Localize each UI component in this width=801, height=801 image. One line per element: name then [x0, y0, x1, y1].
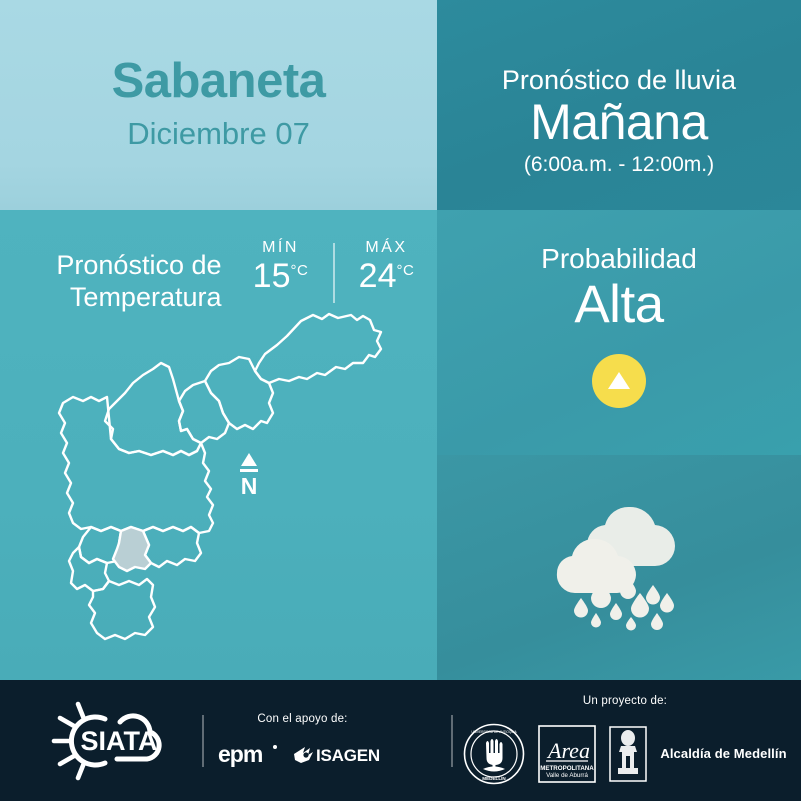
- aburra-valley-map: N: [0, 305, 437, 675]
- udea-ring-top-text: UNIVERSIDAD DE ANTIOQUIA: [472, 730, 518, 734]
- weather-icon-panel: [437, 455, 801, 680]
- amva-wordmark: Area: [546, 738, 590, 763]
- map-region-caldas: [89, 579, 155, 639]
- footer-divider-1: [202, 715, 204, 767]
- alcaldia-label: Alcaldía de Medellín: [660, 746, 786, 761]
- probability-panel: Probabilidad Alta: [437, 210, 801, 455]
- probability-value: Alta: [437, 275, 801, 336]
- rain-cloud-icon: [529, 493, 709, 643]
- rain-forecast-label: Pronóstico de lluvia: [437, 66, 801, 94]
- footer: SIATA Con el apoyo de: epm ISAGE: [0, 680, 801, 801]
- project-caption: Un proyecto de:: [463, 696, 786, 708]
- siata-wordmark: SIATA: [80, 726, 157, 756]
- map-region-copacabana: [179, 381, 229, 443]
- temperature-title: Pronóstico de Temperatura: [10, 239, 222, 314]
- epm-logo: epm: [218, 741, 280, 767]
- map-region-bello: [105, 363, 201, 455]
- rain-forecast-hours: (6:00a.m. - 12:00m.): [437, 152, 801, 178]
- forecast-date: Diciembre 07: [0, 118, 437, 149]
- rain-forecast-period: Mañana: [437, 94, 801, 150]
- temperature-title-line1: Pronóstico de: [10, 250, 222, 282]
- udea-ring-bottom-text: MEDELLÍN: [483, 774, 507, 781]
- temperature-min-caption: MÍN: [240, 239, 322, 257]
- alcaldia-shield-logo: [609, 726, 647, 782]
- weather-forecast-card: Sabaneta Diciembre 07 Pronóstico de lluv…: [0, 0, 801, 801]
- udea-logo: MEDELLÍN UNIVERSIDAD DE ANTIOQUIA: [463, 723, 525, 785]
- temperature-min-value: 15: [253, 257, 291, 295]
- probability-badge: [592, 354, 646, 408]
- temperature-summary: Pronóstico de Temperatura MÍN 15°C MÁX 2…: [0, 210, 437, 314]
- support-block: Con el apoyo de: epm ISAGEN: [218, 714, 388, 767]
- north-arrow-icon: [240, 453, 258, 472]
- amva-line2: Valle de Aburrá: [546, 772, 588, 779]
- map-region-barbosa: [255, 314, 381, 383]
- temperature-max-value-row: 24°C: [346, 258, 428, 295]
- temperature-values: MÍN 15°C MÁX 24°C: [240, 239, 428, 303]
- map-region-medellin: [59, 397, 213, 533]
- map-region-la-estrella: [69, 547, 109, 591]
- siata-logo: SIATA: [50, 698, 188, 784]
- map-region-envigado: [143, 527, 201, 567]
- amva-line1: METROPOLITANA: [541, 765, 595, 772]
- amva-logo: Area METROPOLITANA Valle de Aburrá: [538, 725, 596, 783]
- map-region-girardota: [205, 357, 273, 429]
- map-region-sabaneta-highlight: [113, 527, 151, 571]
- city-header-panel: Sabaneta Diciembre 07: [0, 0, 437, 210]
- temperature-max-unit: °C: [396, 262, 414, 279]
- temperature-divider: [333, 243, 335, 303]
- footer-right-section: Un proyecto de: MEDELLÍN UNIVERSIDAD DE …: [437, 680, 801, 801]
- temperature-panel: Pronóstico de Temperatura MÍN 15°C MÁX 2…: [0, 210, 437, 680]
- project-block: Un proyecto de: MEDELLÍN UNIVERSIDAD DE …: [463, 696, 786, 785]
- map-svg: N: [33, 305, 405, 645]
- footer-divider-2: [451, 715, 453, 767]
- city-name: Sabaneta: [0, 0, 437, 106]
- svg-text:ISAGEN: ISAGEN: [316, 746, 380, 765]
- support-caption: Con el apoyo de:: [218, 714, 388, 726]
- temperature-max: MÁX 24°C: [346, 239, 428, 303]
- footer-left-section: SIATA Con el apoyo de: epm ISAGE: [0, 680, 437, 801]
- temperature-min-value-row: 15°C: [240, 258, 322, 295]
- project-logos: MEDELLÍN UNIVERSIDAD DE ANTIOQUIA Area M…: [463, 723, 786, 785]
- support-logos: epm ISAGEN: [218, 741, 388, 767]
- probability-label: Probabilidad: [437, 244, 801, 275]
- temperature-min: MÍN 15°C: [240, 239, 322, 303]
- north-label: N: [240, 473, 257, 499]
- rain-forecast-panel: Pronóstico de lluvia Mañana (6:00a.m. - …: [437, 0, 801, 210]
- isagen-logo: ISAGEN: [292, 742, 388, 766]
- temperature-max-caption: MÁX: [346, 239, 428, 257]
- svg-text:epm: epm: [218, 741, 263, 767]
- temperature-min-unit: °C: [290, 262, 308, 279]
- temperature-max-value: 24: [359, 257, 397, 295]
